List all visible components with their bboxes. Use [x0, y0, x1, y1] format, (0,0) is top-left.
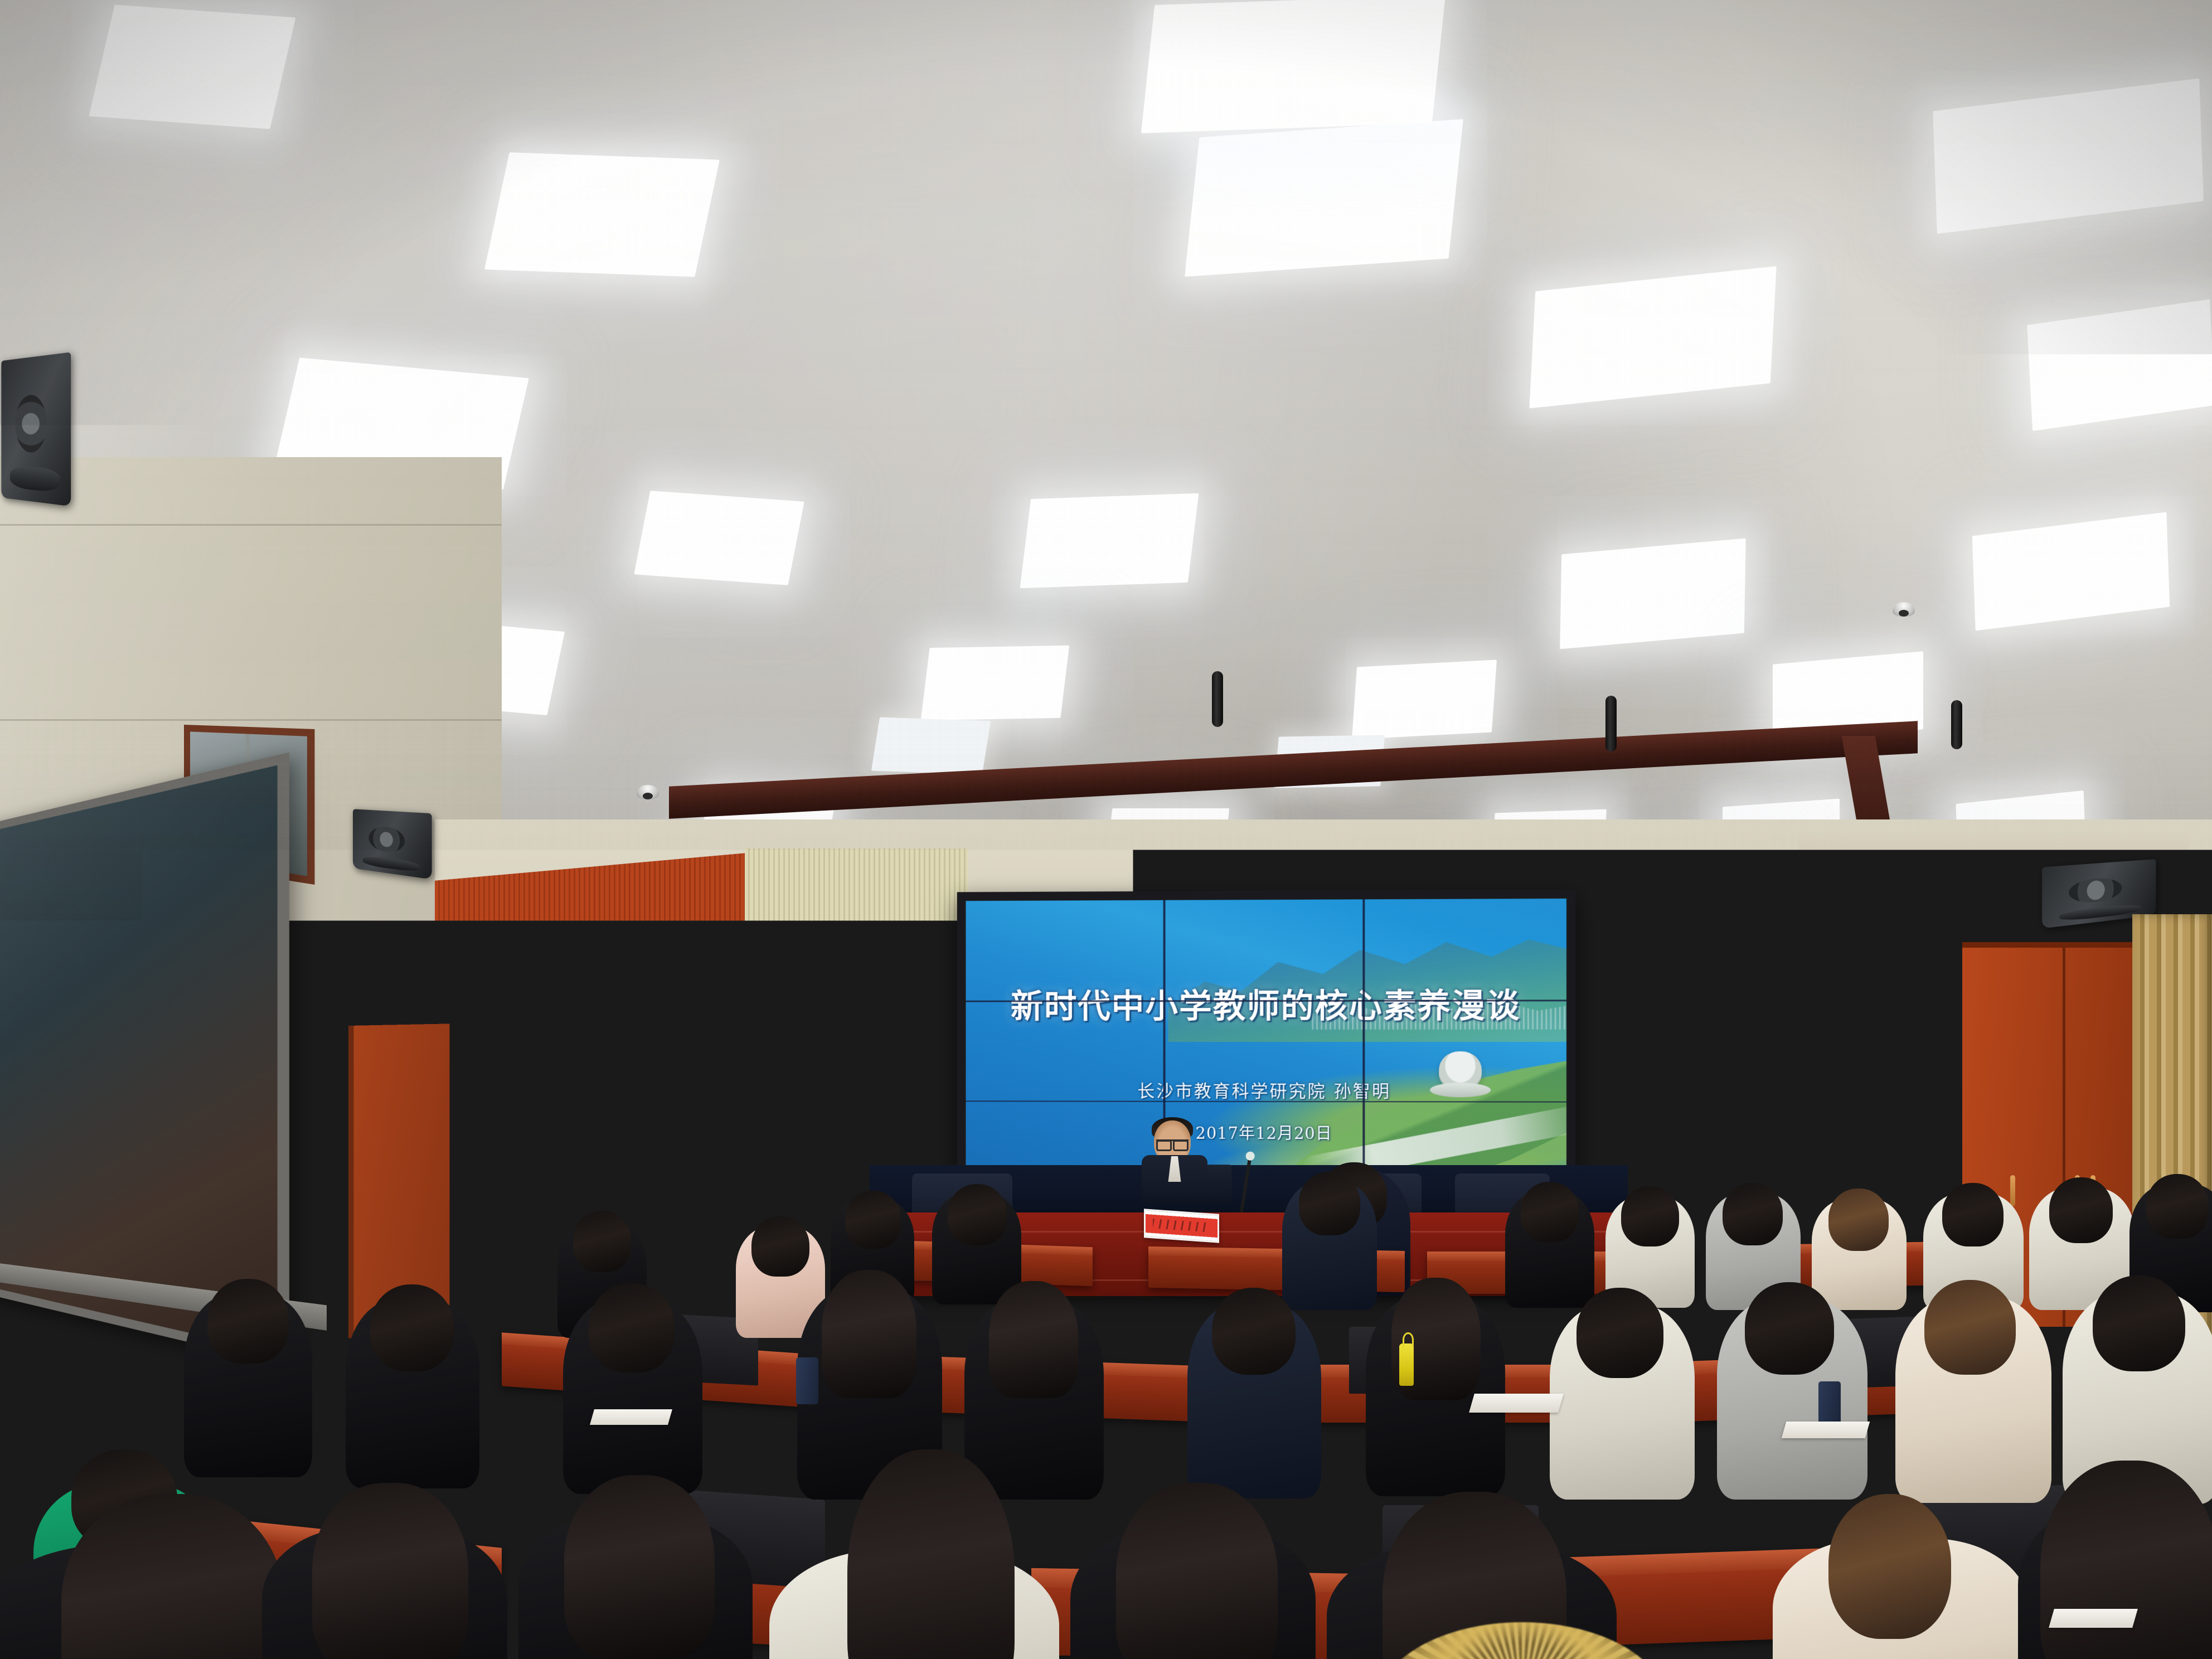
audience-head [370, 1284, 454, 1371]
photo-scene: 新时代中小学教师的核心素养漫谈 长沙市教育科学研究院 孙智明 2017年12月2… [0, 0, 2212, 1659]
audience-head [948, 1184, 1007, 1245]
ptz-camera-icon [1655, 1002, 1689, 1034]
audience-hair [2040, 1461, 2212, 1659]
audience-head [2146, 1174, 2209, 1239]
audience-head [589, 1283, 675, 1372]
dome-camera-icon [1893, 602, 1915, 617]
drink-bottle [1399, 1343, 1414, 1386]
ac-vent [1808, 1093, 1893, 1142]
light-panel [484, 152, 720, 276]
audience-head [1212, 1288, 1296, 1375]
ptz-head [1610, 1003, 1631, 1020]
light-panel [1185, 119, 1463, 277]
ptz-head [843, 1003, 864, 1020]
light-panel [1560, 539, 1745, 649]
hanging-microphone [1212, 671, 1223, 727]
handout-paper [2049, 1609, 2138, 1628]
ptz-camera-icon [1603, 1003, 1638, 1035]
audience-head [2093, 1275, 2185, 1371]
audience-head [1828, 1189, 1889, 1251]
audience-area [0, 1160, 2212, 1659]
audience-hair [989, 1281, 1078, 1398]
ptz-head [1661, 1002, 1682, 1019]
audience-head [1299, 1172, 1360, 1235]
dome-camera-icon [637, 785, 659, 799]
audience-head [751, 1216, 809, 1277]
audience-head [1745, 1282, 1834, 1375]
thermos-cup [796, 1357, 818, 1404]
audience-hair [312, 1483, 468, 1659]
presenter-glasses [1156, 1139, 1189, 1147]
light-panel [871, 717, 991, 775]
audience-head [207, 1279, 289, 1364]
handout-paper [590, 1409, 672, 1425]
audience-head [1723, 1183, 1783, 1245]
audience-head [573, 1211, 631, 1272]
slide-subtitle: 长沙市教育科学研究院 孙智明 [966, 1076, 1566, 1102]
light-panel [1141, 0, 1445, 133]
ptz-mount [1611, 1025, 1630, 1035]
hanging-microphone [1605, 696, 1617, 751]
audience-hair [822, 1270, 916, 1398]
ptz-mount [1662, 1023, 1681, 1034]
audience-head [845, 1191, 901, 1249]
slide-date: 2017年12月20日 [966, 1120, 1566, 1144]
light-panel [921, 646, 1069, 720]
audience-head [1942, 1183, 2004, 1246]
light-panel [89, 4, 296, 129]
light-panel [1020, 493, 1199, 588]
audience-head [1828, 1494, 1951, 1639]
handout-paper [1469, 1394, 1564, 1413]
slide-title: 新时代中小学教师的核心素养漫谈 [966, 988, 1566, 1024]
audience-head [2049, 1177, 2113, 1243]
ptz-camera-icon [836, 1003, 871, 1035]
audience-head [1521, 1182, 1579, 1242]
audience-head [1924, 1280, 2016, 1375]
hanging-microphone [1951, 700, 1962, 749]
audience-hair [564, 1475, 715, 1659]
handout-paper [1782, 1422, 1870, 1438]
light-panel [634, 491, 804, 585]
audience-hair [1116, 1483, 1278, 1659]
wall-speaker [353, 809, 432, 879]
audience-head [1576, 1288, 1663, 1378]
ptz-mount [844, 1025, 863, 1035]
wall-speaker [1, 352, 71, 507]
light-panel [1352, 659, 1497, 739]
audience-head [1621, 1186, 1679, 1246]
